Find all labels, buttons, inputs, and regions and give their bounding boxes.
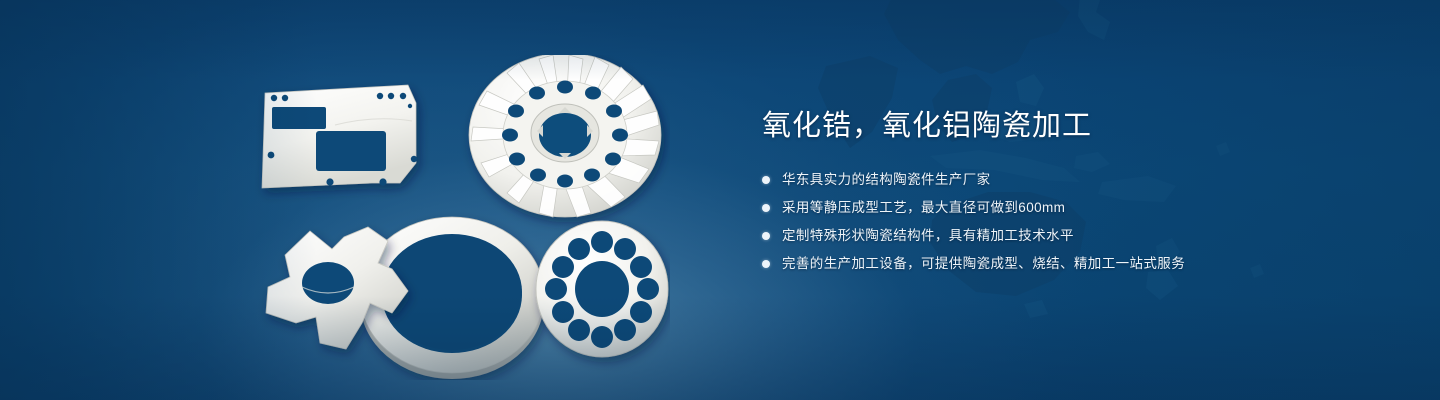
- feature-text: 定制特殊形状陶瓷结构件，具有精加工技术水平: [782, 226, 1074, 246]
- list-item: 采用等静压成型工艺，最大直径可做到600mm: [762, 198, 1362, 218]
- banner-copy: 氧化锆，氧化铝陶瓷加工 华东具实力的结构陶瓷件生产厂家 采用等静压成型工艺，最大…: [762, 108, 1362, 282]
- ceramic-perforated-disc: [536, 221, 668, 357]
- bullet-dot-icon: [762, 204, 770, 212]
- feature-text: 完善的生产加工设备，可提供陶瓷成型、烧结、精加工一站式服务: [782, 254, 1185, 274]
- page-title: 氧化锆，氧化铝陶瓷加工: [762, 108, 1362, 144]
- bullet-dot-icon: [762, 232, 770, 240]
- list-item: 华东具实力的结构陶瓷件生产厂家: [762, 170, 1362, 190]
- feature-text: 华东具实力的结构陶瓷件生产厂家: [782, 170, 991, 190]
- hero-banner: 氧化锆，氧化铝陶瓷加工 华东具实力的结构陶瓷件生产厂家 采用等静压成型工艺，最大…: [0, 0, 1440, 400]
- bullet-dot-icon: [762, 176, 770, 184]
- list-item: 定制特殊形状陶瓷结构件，具有精加工技术水平: [762, 226, 1362, 246]
- feature-list: 华东具实力的结构陶瓷件生产厂家 采用等静压成型工艺，最大直径可做到600mm 定…: [762, 170, 1362, 274]
- bullet-dot-icon: [762, 260, 770, 268]
- list-item: 完善的生产加工设备，可提供陶瓷成型、烧结、精加工一站式服务: [762, 254, 1362, 274]
- feature-text: 采用等静压成型工艺，最大直径可做到600mm: [782, 198, 1065, 218]
- ceramic-impeller: [469, 55, 661, 217]
- ceramic-plate: [262, 85, 417, 188]
- ceramic-products-image: [240, 55, 670, 380]
